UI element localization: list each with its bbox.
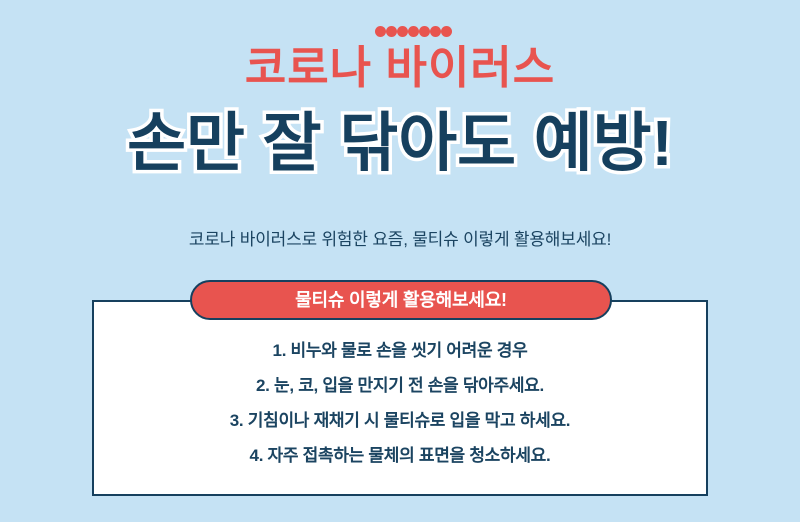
dot-icon [430, 26, 441, 37]
kicker-title: 코로나 바이러스 [0, 26, 800, 102]
list-item: 4. 자주 접촉하는 물체의 표면을 청소하세요. [92, 438, 708, 473]
list-item: 1. 비누와 물로 손을 씻기 어려운 경우 [92, 333, 708, 368]
dot-icon [408, 26, 419, 37]
list-item: 3. 기침이나 재채기 시 물티슈로 입을 막고 하세요. [92, 403, 708, 438]
list-item: 2. 눈, 코, 입을 만지기 전 손을 닦아주세요. [92, 368, 708, 403]
dot-icon [419, 26, 430, 37]
page-subtitle: 코로나 바이러스로 위험한 요즘, 물티슈 이렇게 활용해보세요! [0, 225, 800, 250]
page-title: 손만 잘 닦아도 예방! [0, 104, 800, 182]
dot-icon [397, 26, 408, 37]
tips-banner-label: 물티슈 이렇게 활용해보세요! [190, 280, 612, 320]
dot-icon [386, 26, 397, 37]
kicker-decorative-dots [0, 26, 800, 42]
dot-icon [375, 26, 386, 37]
kicker-title-text: 코로나 바이러스 [0, 45, 800, 90]
poster-canvas: 코로나 바이러스 손만 잘 닦아도 예방! 코로나 바이러스로 위험한 요즘, … [0, 0, 800, 522]
tips-list: 1. 비누와 물로 손을 씻기 어려운 경우 2. 눈, 코, 입을 만지기 전… [92, 333, 708, 473]
dot-icon [441, 26, 452, 37]
